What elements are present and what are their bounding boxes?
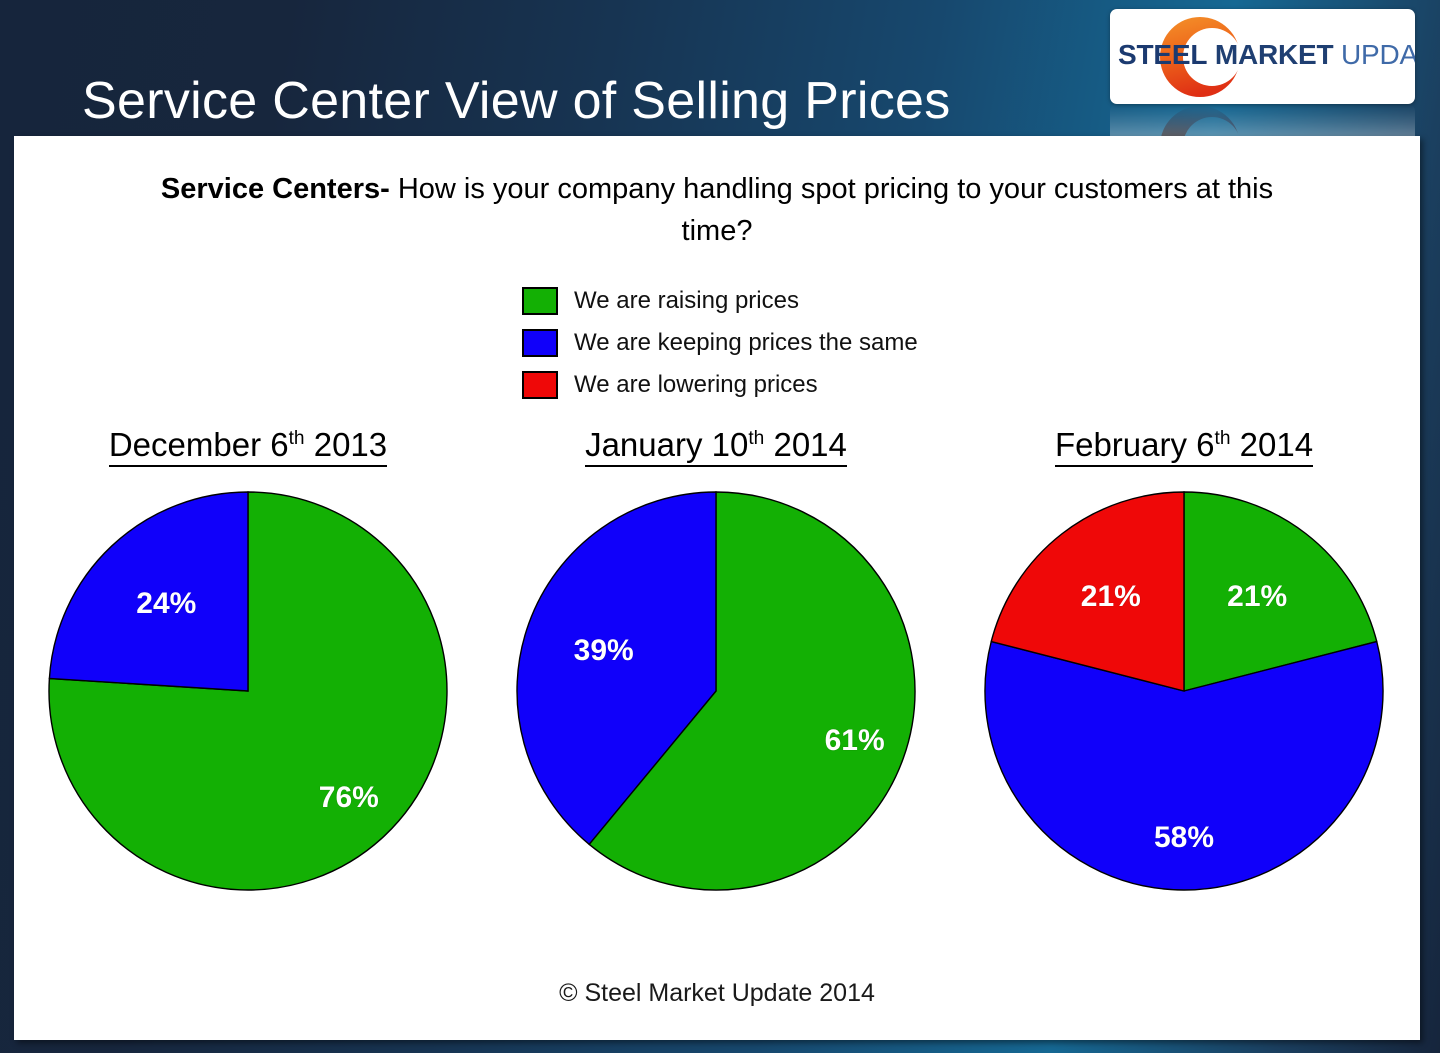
pie-svg-0: [46, 489, 450, 893]
chart-heading-0-ordinal: th: [289, 428, 305, 449]
chart-heading-0-month: December 6: [109, 426, 289, 463]
pie-chart-0: 76%24%: [46, 489, 450, 893]
pie-slice-label: 21%: [1081, 580, 1141, 614]
logo-word-update: UPDATE: [1341, 39, 1415, 70]
pie-svg-1: [514, 489, 918, 893]
pie-slice-label: 24%: [136, 587, 196, 621]
legend-swatch-green: [522, 287, 558, 315]
charts-row: December 6th 2013 76%24% January 10th 20…: [14, 426, 1420, 893]
chart-heading-0-year: 2013: [305, 426, 388, 463]
logo-wordmark: STEEL MARKET UPDATE: [1118, 39, 1410, 71]
chart-heading-2-ordinal: th: [1215, 428, 1231, 449]
chart-heading-2-month: February 6: [1055, 426, 1215, 463]
pie-chart-2: 21%58%21%: [982, 489, 1386, 893]
page-title: Service Center View of Selling Prices: [82, 71, 951, 131]
chart-december-2013: December 6th 2013 76%24%: [14, 426, 482, 893]
copyright-note: © Steel Market Update 2014: [14, 979, 1420, 1008]
chart-january-2014: January 10th 2014 61%39%: [482, 426, 950, 893]
legend-swatch-red: [522, 371, 558, 399]
question-body: How is your company handling spot pricin…: [390, 173, 1273, 247]
chart-heading-1-year: 2014: [764, 426, 847, 463]
legend-label-lowering: We are lowering prices: [574, 371, 818, 399]
slide: Service Center View of Selling Prices: [0, 0, 1440, 1053]
legend-label-same: We are keeping prices the same: [574, 329, 918, 357]
chart-heading-1-month: January 10: [585, 426, 748, 463]
legend-label-raising: We are raising prices: [574, 287, 799, 315]
chart-heading-2-year: 2014: [1230, 426, 1313, 463]
pie-slice-label: 76%: [319, 781, 379, 815]
pie-slice-label: 39%: [574, 634, 634, 668]
question-lead: Service Centers-: [161, 173, 390, 205]
legend: We are raising prices We are keeping pri…: [522, 280, 918, 406]
chart-heading-2: February 6th 2014: [1055, 426, 1313, 467]
logo: STEEL MARKET UPDATE: [1110, 9, 1415, 104]
chart-heading-1-ordinal: th: [748, 428, 764, 449]
legend-item-same: We are keeping prices the same: [522, 322, 918, 364]
content-panel: Service Centers- How is your company han…: [14, 136, 1420, 1040]
legend-item-lowering: We are lowering prices: [522, 364, 918, 406]
pie-chart-1: 61%39%: [514, 489, 918, 893]
chart-february-2014: February 6th 2014 21%58%21%: [950, 426, 1418, 893]
logo-word-steel: STEEL: [1118, 39, 1207, 70]
legend-swatch-blue: [522, 329, 558, 357]
logo-word-market: MARKET: [1215, 39, 1334, 70]
pie-slice-label: 58%: [1154, 821, 1214, 855]
chart-heading-1: January 10th 2014: [585, 426, 847, 467]
pie-slice-label: 61%: [825, 724, 885, 758]
legend-item-raising: We are raising prices: [522, 280, 918, 322]
question-text: Service Centers- How is your company han…: [14, 168, 1420, 252]
pie-slice-label: 21%: [1227, 580, 1287, 614]
chart-heading-0: December 6th 2013: [109, 426, 387, 467]
header-band: Service Center View of Selling Prices: [0, 0, 1440, 136]
